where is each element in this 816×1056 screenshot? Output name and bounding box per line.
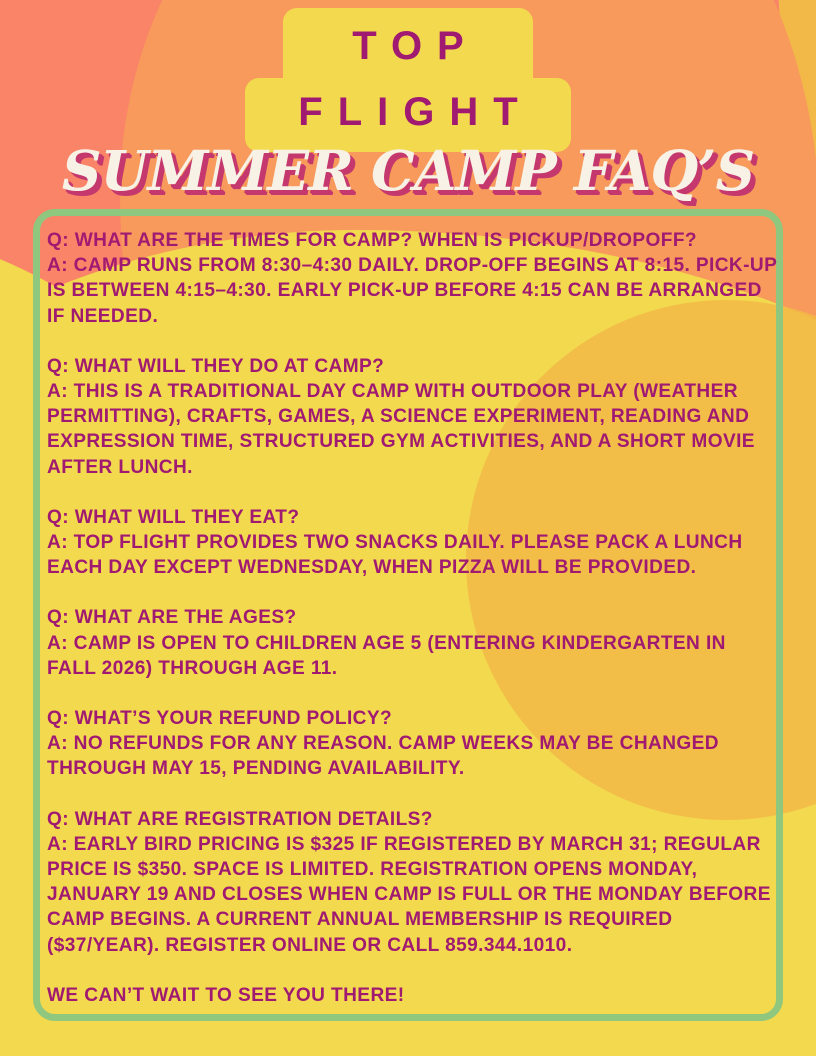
faq-question: Q: WHAT’S YOUR REFUND POLICY? [47, 706, 777, 731]
faq-poster: TOP FLIGHT SUMMER CAMP FAQ’S Q: WHAT ARE… [0, 0, 816, 1056]
brand-logo: TOP FLIGHT [0, 8, 816, 152]
faq-item: Q: WHAT ARE REGISTRATION DETAILS? A: EAR… [47, 807, 777, 958]
faq-answer: A: EARLY BIRD PRICING IS $325 IF REGISTE… [47, 832, 777, 958]
closing-message: WE CAN’T WAIT TO SEE YOU THERE! [47, 983, 777, 1008]
faq-answer: A: NO REFUNDS FOR ANY REASON. CAMP WEEKS… [47, 731, 777, 781]
faq-answer: A: CAMP IS OPEN TO CHILDREN AGE 5 (ENTER… [47, 631, 777, 681]
faq-answer: A: THIS IS A TRADITIONAL DAY CAMP WITH O… [47, 379, 777, 480]
faq-question: Q: WHAT ARE THE TIMES FOR CAMP? WHEN IS … [47, 228, 777, 253]
faq-question: Q: WHAT ARE THE AGES? [47, 605, 777, 630]
faq-item: Q: WHAT WILL THEY DO AT CAMP? A: THIS IS… [47, 354, 777, 480]
faq-question: Q: WHAT WILL THEY DO AT CAMP? [47, 354, 777, 379]
faq-item: Q: WHAT WILL THEY EAT? A: TOP FLIGHT PRO… [47, 505, 777, 581]
logo-line-top: TOP [283, 8, 533, 80]
faq-question: Q: WHAT WILL THEY EAT? [47, 505, 777, 530]
faq-list: Q: WHAT ARE THE TIMES FOR CAMP? WHEN IS … [47, 228, 777, 1008]
page-title: SUMMER CAMP FAQ’S [0, 138, 816, 203]
faq-item: Q: WHAT ARE THE TIMES FOR CAMP? WHEN IS … [47, 228, 777, 329]
faq-answer: A: CAMP RUNS FROM 8:30–4:30 DAILY. DROP-… [47, 253, 777, 329]
faq-answer: A: TOP FLIGHT PROVIDES TWO SNACKS DAILY.… [47, 530, 777, 580]
faq-item: Q: WHAT’S YOUR REFUND POLICY? A: NO REFU… [47, 706, 777, 782]
faq-item: Q: WHAT ARE THE AGES? A: CAMP IS OPEN TO… [47, 605, 777, 681]
faq-question: Q: WHAT ARE REGISTRATION DETAILS? [47, 807, 777, 832]
